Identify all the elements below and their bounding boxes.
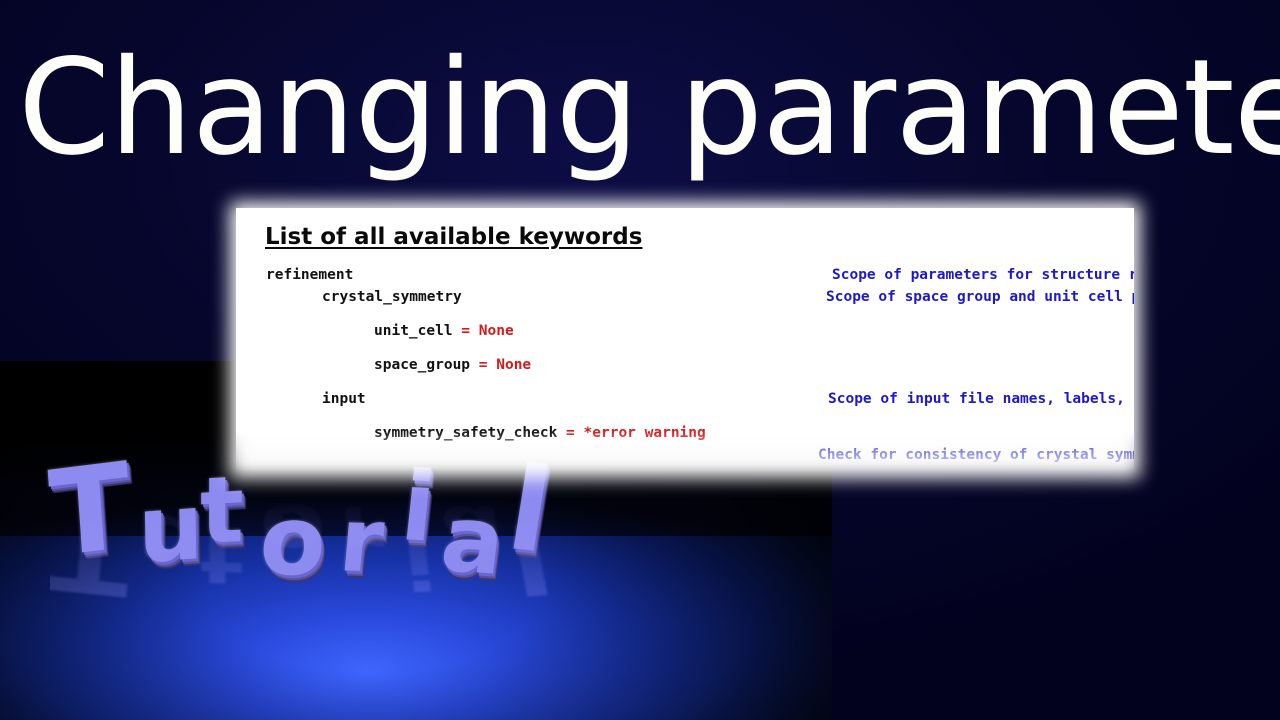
tutorial-letter-reflection: i: [396, 513, 441, 606]
row-spacer: [236, 410, 1134, 422]
keyword-description: Scope of parameters for structure refine…: [832, 264, 1134, 286]
keyword-equals: =: [453, 323, 479, 339]
keyword-name: symmetry_safety_check = *error warning: [374, 422, 706, 444]
slide-root: Tutorial Tutorial Changing parameters Li…: [0, 0, 1280, 720]
keyword-value: None: [479, 323, 514, 339]
keyword-value: *error warning: [584, 425, 706, 441]
keyword-description: Check for consistency of crystal symmetr…: [818, 444, 1134, 466]
row-spacer: [236, 342, 1134, 354]
panel-surface: List of all available keywords refinemen…: [236, 208, 1134, 472]
tutorial-letter-reflection: t: [200, 511, 244, 601]
keyword-panel: List of all available keywords refinemen…: [236, 208, 1134, 472]
keyword-row: crystal_symmetryScope of space group and…: [236, 286, 1134, 308]
tutorial-letter-reflection: a: [436, 486, 511, 577]
keyword-row: Check for consistency of crystal symmetr…: [236, 444, 1134, 466]
tutorial-letter-reflection: r: [336, 489, 388, 574]
tutorial-letter-reflection: T: [45, 496, 135, 617]
keyword-equals: =: [557, 425, 583, 441]
keyword-row: refinementScope of parameters for struct…: [236, 264, 1134, 286]
tutorial-letter-reflection: l: [500, 500, 561, 613]
keyword-name: unit_cell = None: [374, 320, 514, 342]
keyword-row: symmetry_safety_check = *error warning: [236, 422, 1134, 444]
tutorial-letter-reflection: o: [257, 485, 329, 577]
keyword-value: None: [496, 357, 531, 373]
row-spacer: [236, 376, 1134, 388]
keyword-name: refinement: [266, 264, 353, 286]
tutorial-letter-reflection: u: [137, 496, 204, 588]
keyword-row: space_group = None: [236, 354, 1134, 376]
keyword-description: Scope of space group and unit cell param…: [826, 286, 1134, 308]
keyword-equals: =: [470, 357, 496, 373]
keyword-list: refinementScope of parameters for struct…: [236, 264, 1134, 472]
keyword-name: input: [322, 388, 366, 410]
panel-heading: List of all available keywords: [265, 224, 642, 250]
keyword-name: space_group = None: [374, 354, 531, 376]
page-title: Changing parameters: [18, 33, 1268, 183]
keyword-row: unit_cell = None: [236, 320, 1134, 342]
keyword-name: crystal_symmetry: [322, 286, 462, 308]
tutorial-word-reflection: Tutorial: [50, 487, 750, 610]
row-spacer: [236, 308, 1134, 320]
row-spacer: [236, 466, 1134, 472]
keyword-row: inputScope of input file names, labels, …: [236, 388, 1134, 410]
keyword-description: Scope of input file names, labels, proce…: [828, 388, 1134, 410]
